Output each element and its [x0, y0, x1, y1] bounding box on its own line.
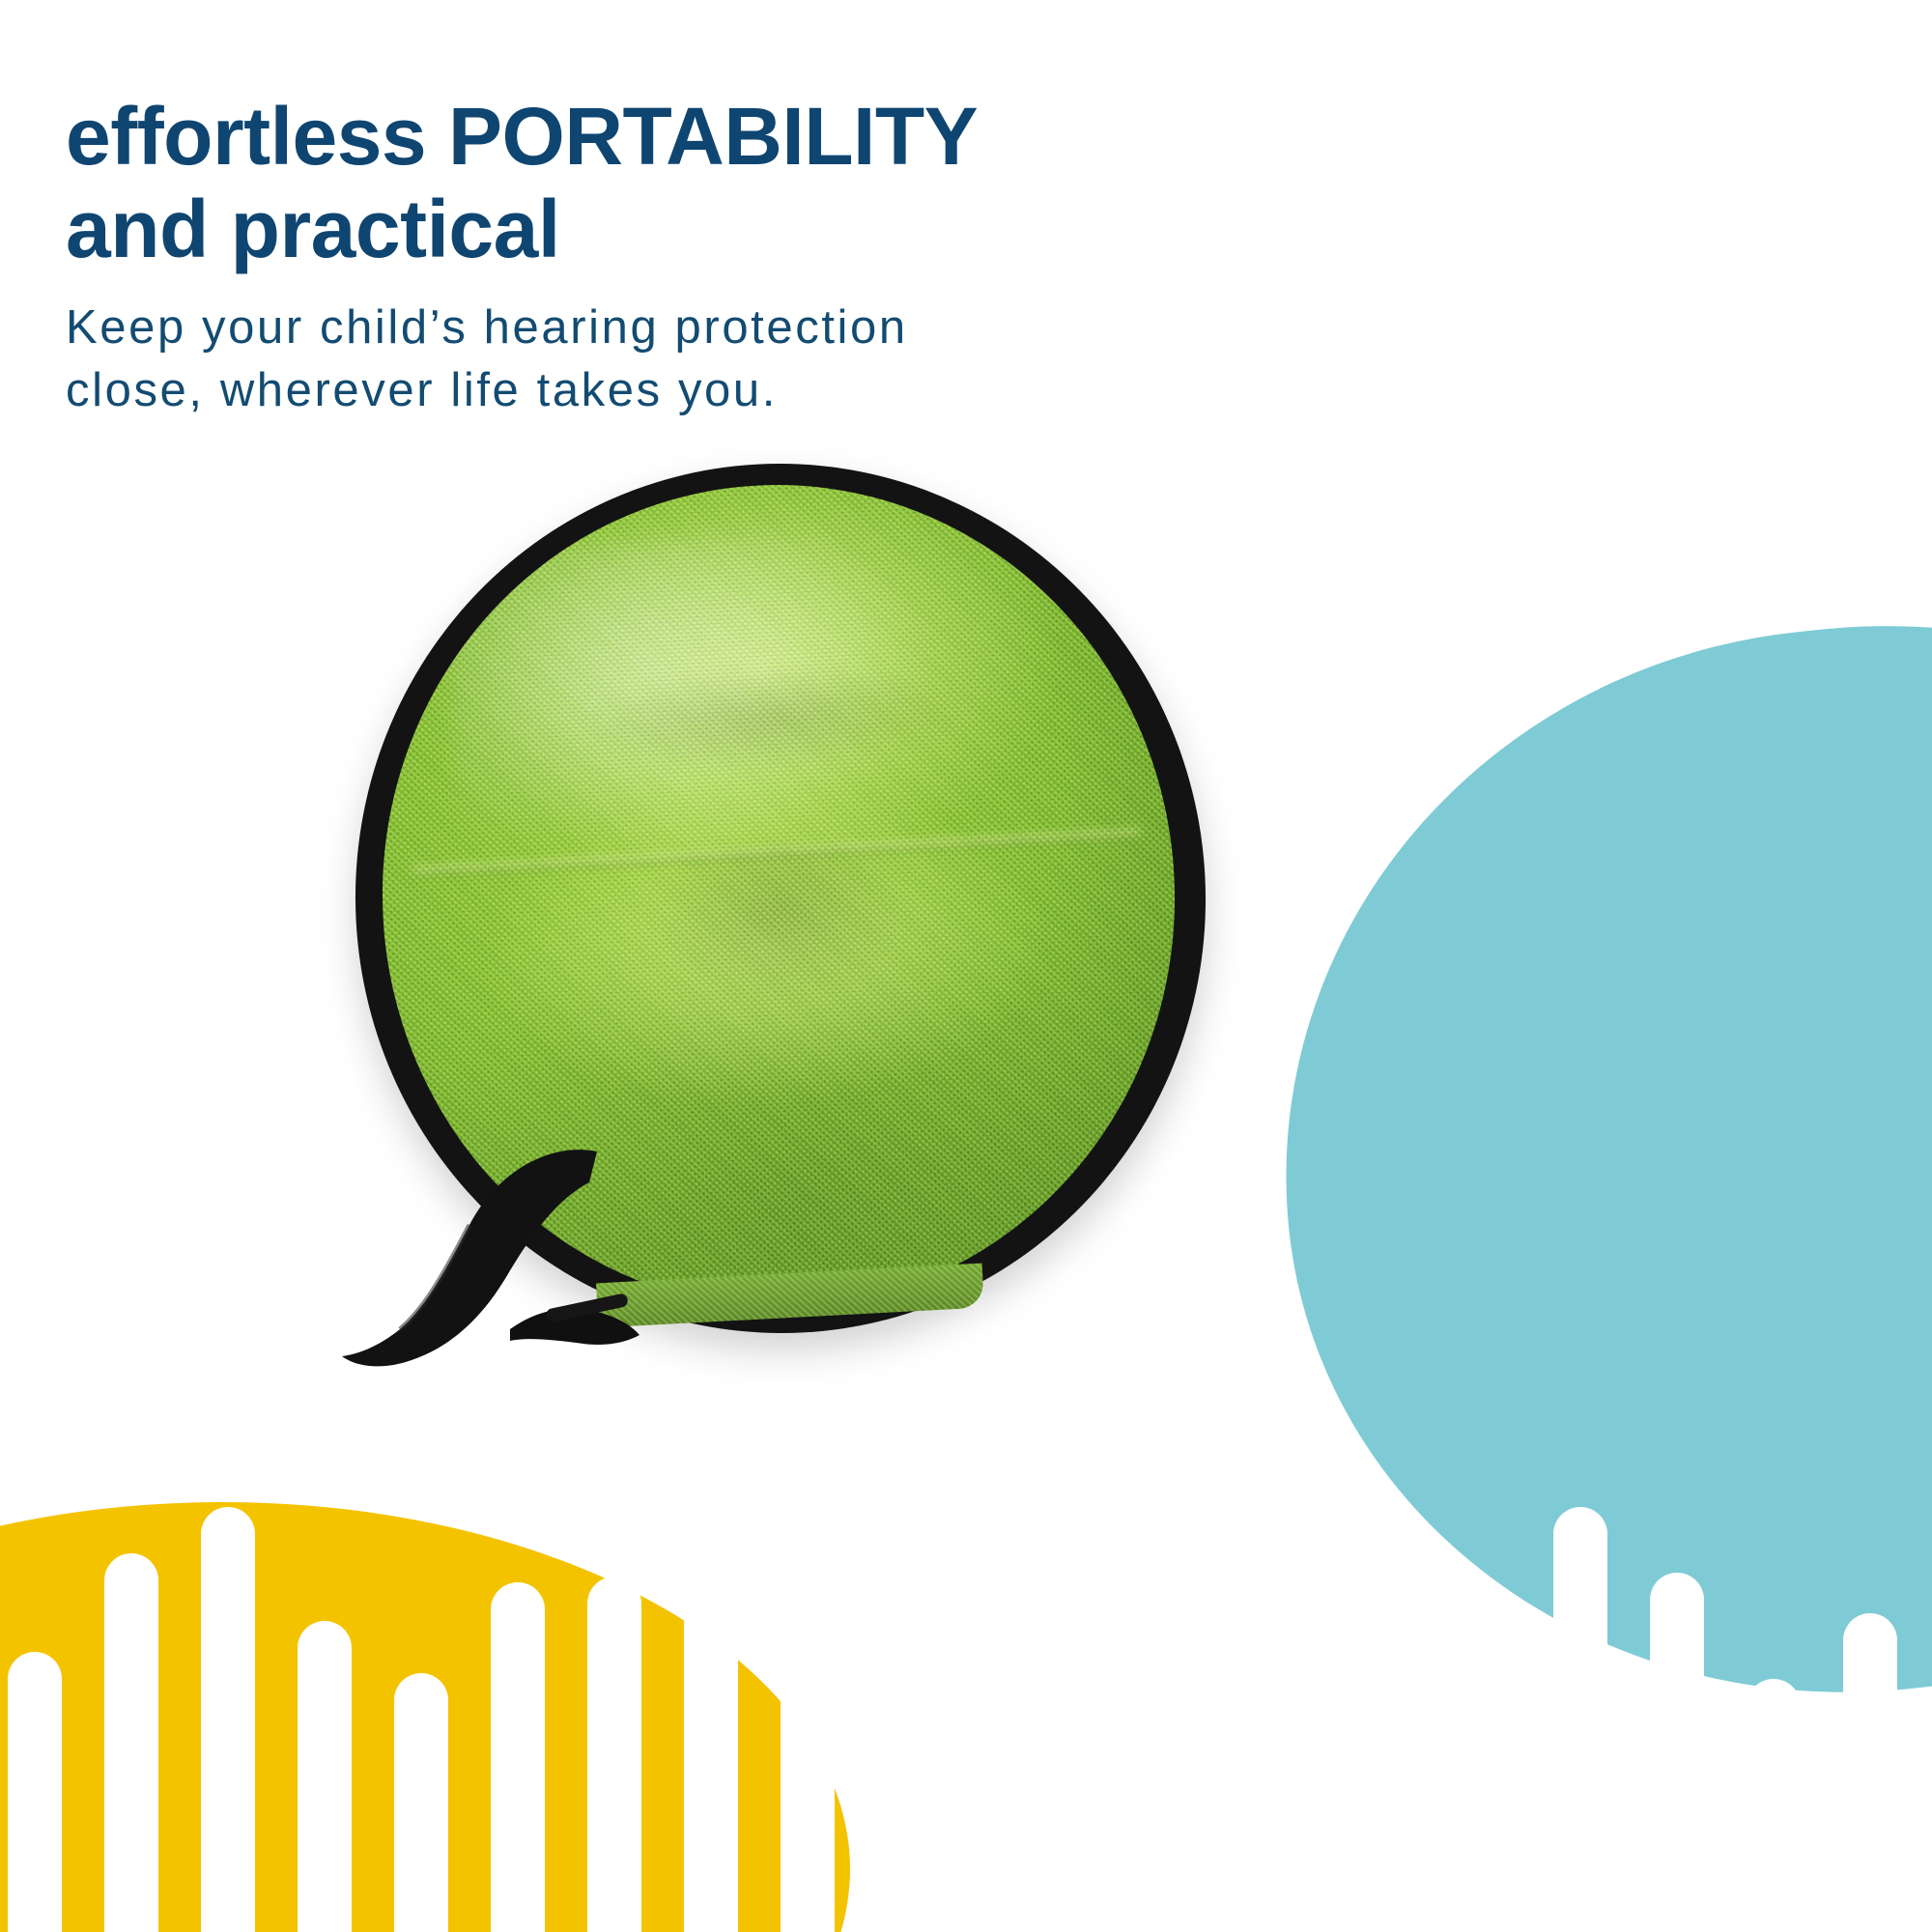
soundwave-bar [394, 1673, 448, 1932]
soundwave-bar [8, 1652, 62, 1932]
subheadline-line-2: close, wherever life takes you. [66, 359, 1321, 422]
soundwave-bar [1167, 1669, 1221, 1932]
soundwave-bar [1747, 1679, 1801, 1932]
soundwave-bar [1264, 1557, 1318, 1932]
soundwave-bar [201, 1507, 255, 1932]
soundwave-bar [1843, 1613, 1897, 1932]
page-headline: effortless PORTABILITY and practical [66, 91, 1321, 276]
carabiner-strap-icon [307, 1140, 713, 1391]
subheadline-line-1: Keep your child’s hearing protection [66, 297, 1321, 359]
soundwave-bar [587, 1577, 641, 1932]
soundwave-bar [298, 1621, 352, 1932]
soundwave-bar [1360, 1694, 1414, 1932]
marketing-banner: effortless PORTABILITY and practical Kee… [0, 0, 1932, 1932]
soundwave-bar [104, 1553, 158, 1932]
soundwave-bar [781, 1660, 835, 1932]
soundwave-bar [1070, 1656, 1124, 1932]
soundwave-bar [877, 1573, 931, 1932]
page-subheadline: Keep your child’s hearing protection clo… [66, 297, 1321, 422]
soundwave-bar [1553, 1507, 1607, 1932]
soundwave-bar [491, 1582, 545, 1932]
soundwave-bar-pattern [0, 1507, 1932, 1932]
headline-line-1: effortless PORTABILITY [66, 91, 1321, 184]
soundwave-bar [684, 1592, 738, 1932]
soundwave-bar [1650, 1573, 1704, 1932]
product-image-hearing-protection-case [355, 464, 1206, 1362]
soundwave-bar [974, 1596, 1028, 1932]
soundwave-bar [1457, 1638, 1511, 1932]
headline-line-2: and practical [66, 184, 1321, 276]
